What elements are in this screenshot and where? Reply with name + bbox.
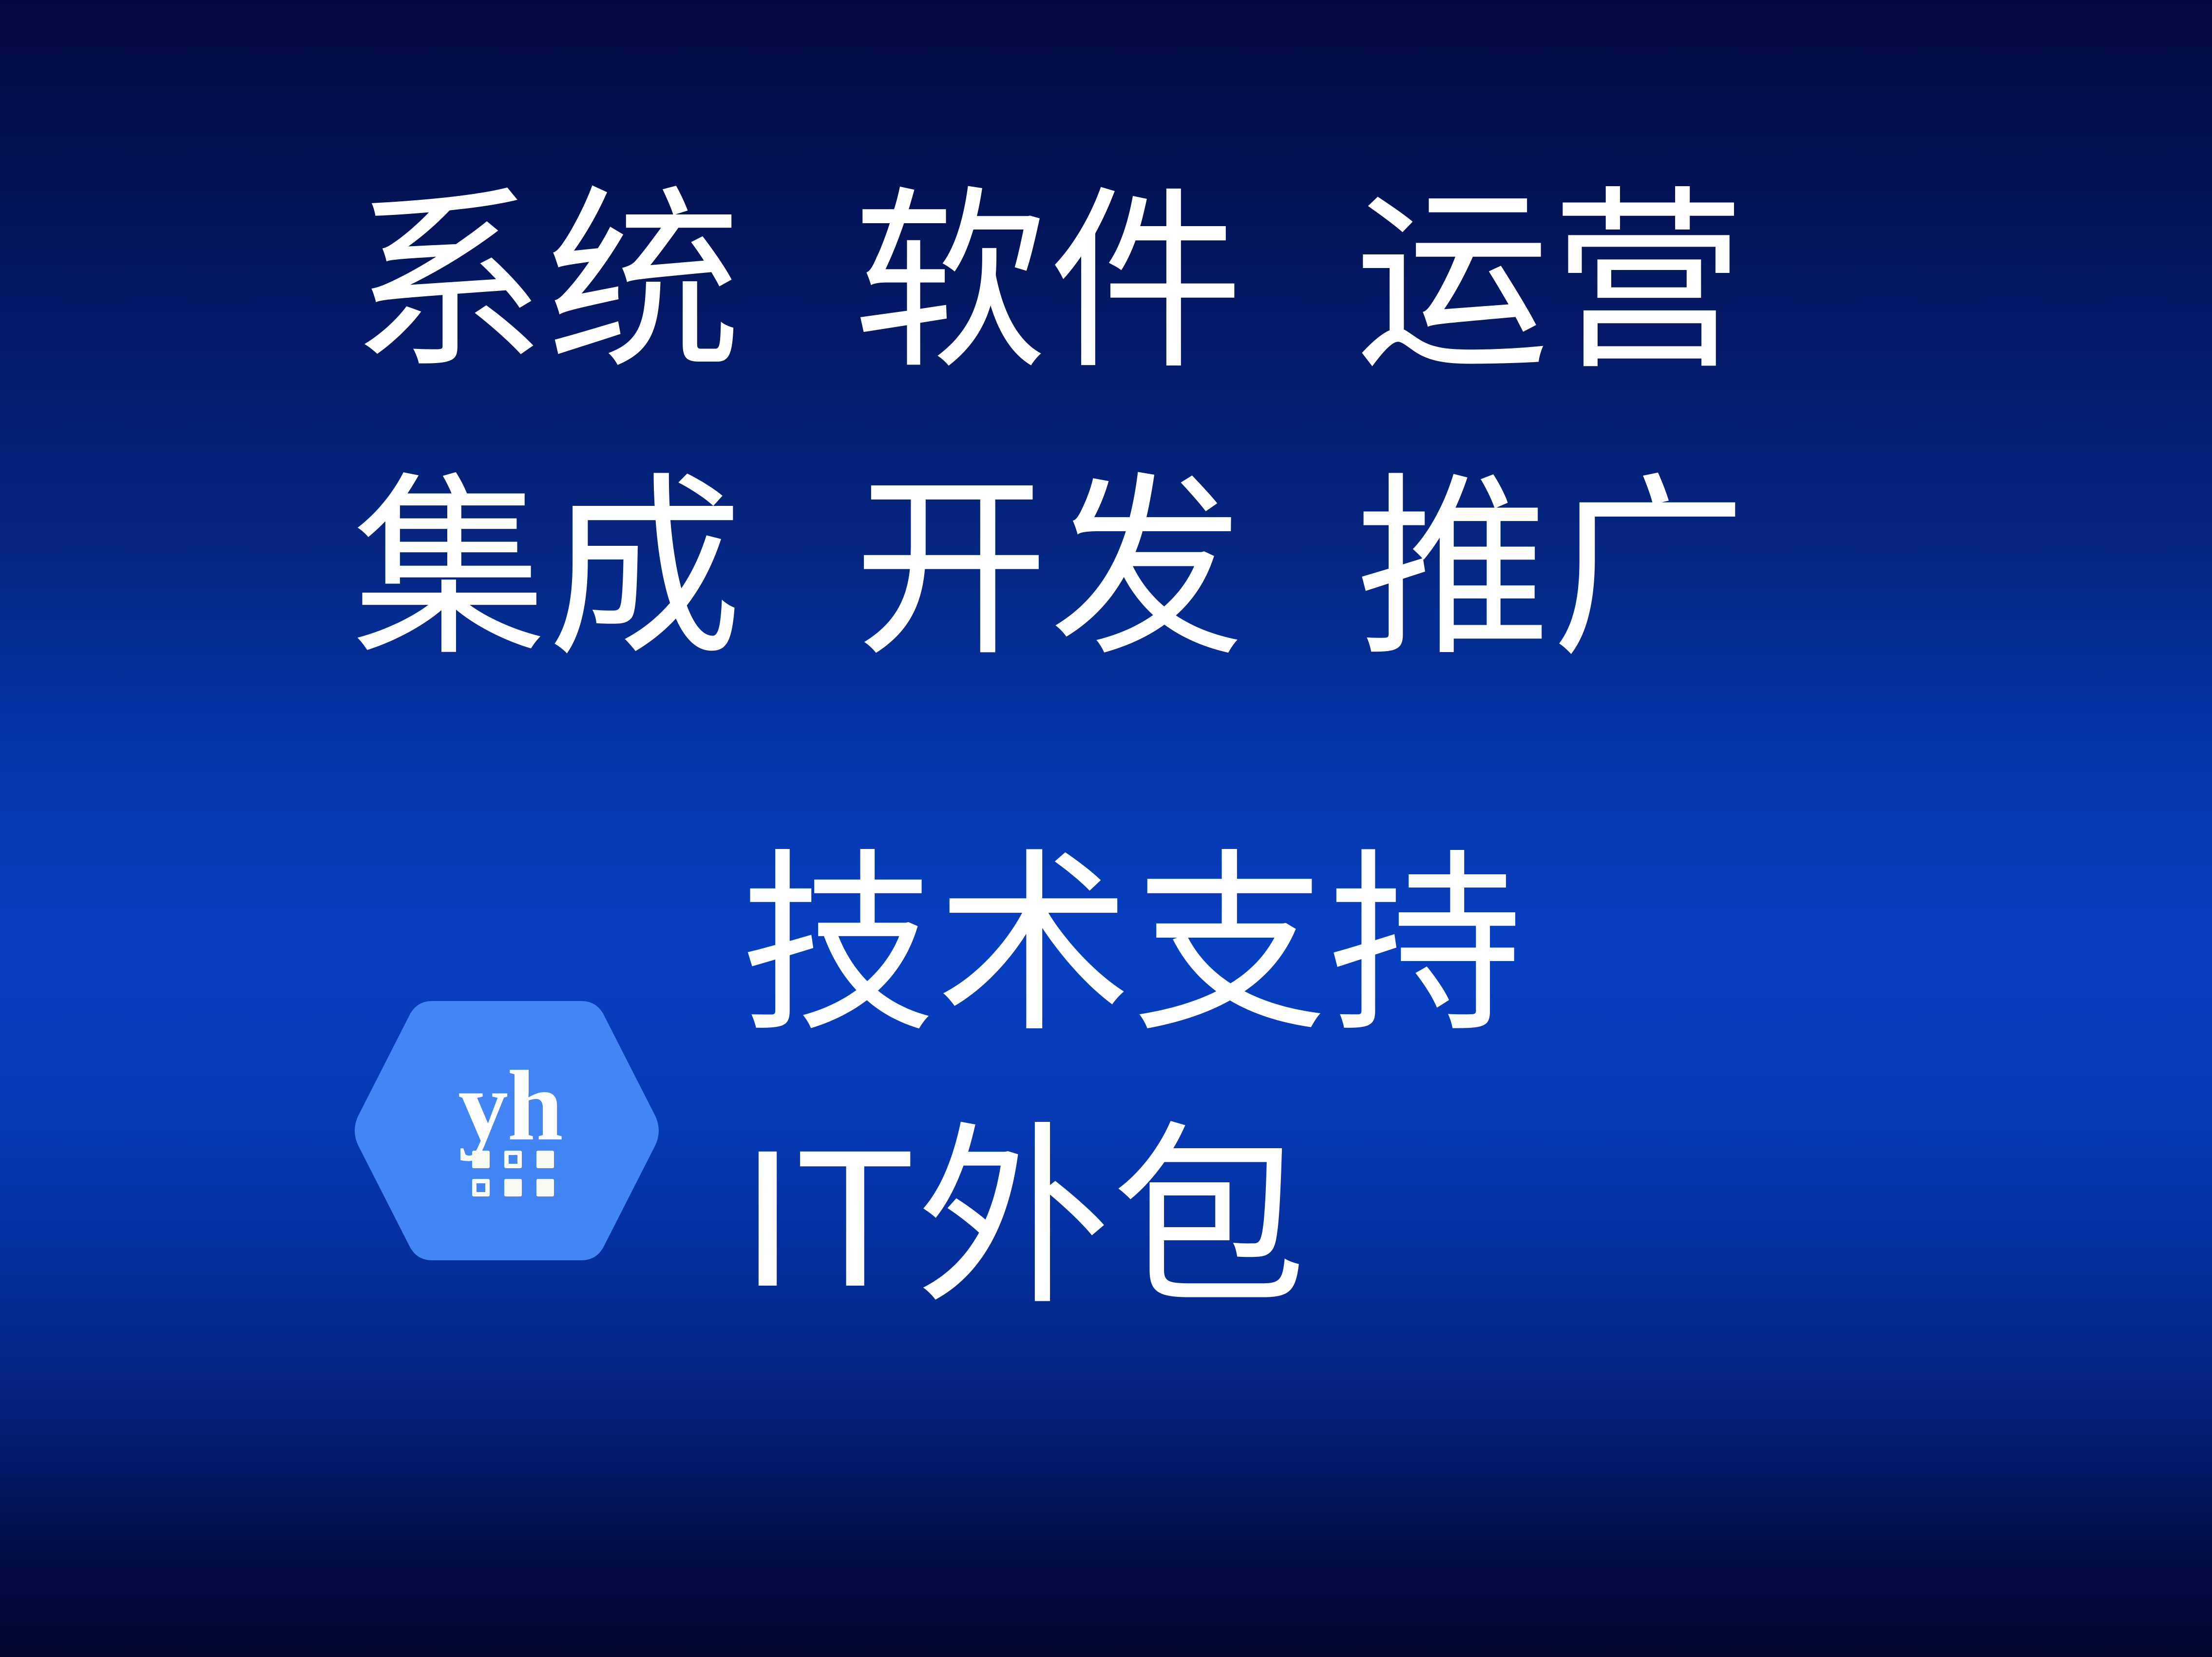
hexagon-icon: yh (353, 995, 660, 1266)
grid-cell-r1c3 (536, 1151, 554, 1168)
services-line-2: IT外包 (741, 1121, 1524, 1316)
services-text-block: 技术支持 IT外包 (741, 848, 1524, 1316)
headline-block: 系统 软件 运营 集成 开发 推广 (351, 185, 1861, 667)
brand-logo: yh (351, 945, 663, 1316)
grid-cell-r2c1 (472, 1179, 490, 1196)
headline-line-2: 集成 开发 推广 (352, 472, 1861, 667)
grid-cell-r1c1 (472, 1151, 490, 1168)
logo-dot-grid (472, 1151, 554, 1196)
logo-letters: yh (458, 1065, 562, 1147)
lower-block: yh 技术支持 IT外包 (351, 848, 2056, 1316)
grid-cell-r2c2 (504, 1179, 522, 1196)
grid-cell-r1c2 (504, 1151, 522, 1168)
grid-cell-r2c3 (536, 1179, 554, 1196)
headline-line-1: 系统 软件 运营 (351, 185, 1861, 380)
services-line-1: 技术支持 (741, 848, 1524, 1043)
logo-mark: yh (353, 995, 660, 1266)
poster-canvas: 系统 软件 运营 集成 开发 推广 yh (0, 0, 2212, 1657)
